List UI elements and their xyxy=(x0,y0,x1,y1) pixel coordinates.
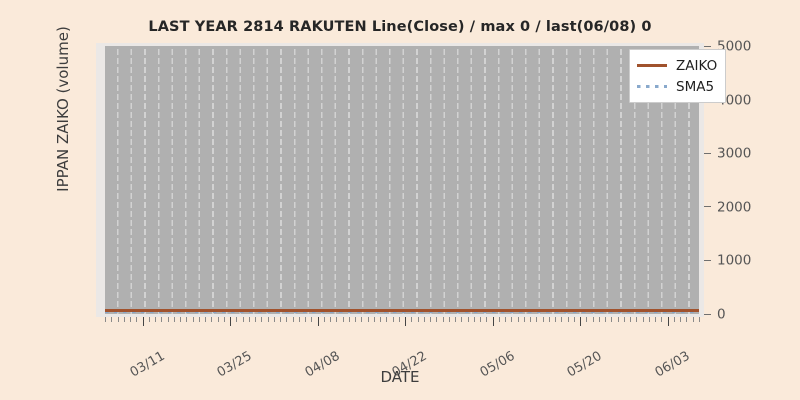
x-axis-minor-tick xyxy=(336,317,337,322)
x-axis-minor-tick xyxy=(599,317,600,322)
x-axis-minor-tick xyxy=(505,317,506,322)
x-axis-minor-tick xyxy=(205,317,206,322)
y-tick-mark xyxy=(704,260,711,261)
x-axis-minor-tick xyxy=(618,317,619,322)
x-axis-minor-tick xyxy=(418,317,419,322)
x-axis-minor-tick xyxy=(105,317,106,322)
x-axis-minor-tick xyxy=(393,317,394,322)
y-tick-label: 3000 xyxy=(717,146,751,162)
x-axis-minor-tick xyxy=(674,317,675,322)
x-axis-minor-tick xyxy=(293,317,294,322)
y-tick-label: 0 xyxy=(717,307,726,323)
x-axis-major-tick xyxy=(230,317,231,326)
x-axis-minor-tick xyxy=(474,317,475,322)
x-axis-minor-tick xyxy=(386,317,387,322)
x-axis-minor-tick xyxy=(430,317,431,322)
legend-label: SMA5 xyxy=(676,79,714,95)
x-axis-minor-tick xyxy=(236,317,237,322)
x-axis-minor-tick xyxy=(355,317,356,322)
x-axis-minor-tick xyxy=(299,317,300,322)
x-axis-minor-tick xyxy=(211,317,212,322)
x-axis-minor-tick xyxy=(305,317,306,322)
x-axis-minor-tick xyxy=(624,317,625,322)
x-axis-major-tick xyxy=(580,317,581,326)
x-axis-minor-tick xyxy=(443,317,444,322)
x-axis-minor-tick xyxy=(518,317,519,322)
x-axis-minor-tick xyxy=(268,317,269,322)
x-axis-minor-tick xyxy=(636,317,637,322)
x-axis-minor-tick xyxy=(330,317,331,322)
x-axis-minor-tick xyxy=(149,317,150,322)
x-axis-minor-tick xyxy=(486,317,487,322)
x-axis-minor-tick xyxy=(186,317,187,322)
x-axis-minor-tick xyxy=(243,317,244,322)
x-axis-minor-tick xyxy=(280,317,281,322)
x-axis-minor-tick xyxy=(193,317,194,322)
x-axis-minor-tick xyxy=(649,317,650,322)
x-axis-minor-tick xyxy=(411,317,412,322)
chart-figure: LAST YEAR 2814 RAKUTEN Line(Close) / max… xyxy=(0,0,800,400)
x-axis-minor-tick xyxy=(261,317,262,322)
x-axis-minor-tick xyxy=(399,317,400,322)
x-axis-minor-tick xyxy=(561,317,562,322)
x-axis-minor-tick xyxy=(530,317,531,322)
y-tick-mark xyxy=(704,46,711,47)
x-axis-minor-tick xyxy=(593,317,594,322)
x-axis-minor-tick xyxy=(361,317,362,322)
x-axis-minor-tick xyxy=(568,317,569,322)
x-axis-minor-tick xyxy=(224,317,225,322)
x-axis-minor-tick xyxy=(155,317,156,322)
chart-legend[interactable]: ZAIKOSMA5 xyxy=(629,49,726,103)
x-axis-minor-tick xyxy=(686,317,687,322)
x-axis-minor-tick xyxy=(524,317,525,322)
y-tick-mark xyxy=(704,206,711,207)
x-axis-minor-tick xyxy=(605,317,606,322)
x-axis-minor-tick xyxy=(436,317,437,322)
x-axis-minor-tick xyxy=(455,317,456,322)
x-axis-minor-tick xyxy=(255,317,256,322)
y-tick-mark xyxy=(704,314,711,315)
x-axis-minor-tick xyxy=(643,317,644,322)
legend-item-zaiko[interactable]: ZAIKO xyxy=(637,55,717,76)
x-axis-minor-tick xyxy=(574,317,575,322)
x-axis-minor-tick xyxy=(680,317,681,322)
y-tick-mark xyxy=(704,153,711,154)
x-axis-minor-tick xyxy=(249,317,250,322)
x-axis-minor-tick xyxy=(661,317,662,322)
legend-label: ZAIKO xyxy=(676,58,717,74)
x-axis-minor-tick xyxy=(311,317,312,322)
x-axis-minor-tick xyxy=(180,317,181,322)
x-axis-minor-tick xyxy=(124,317,125,322)
legend-item-sma5[interactable]: SMA5 xyxy=(637,76,717,97)
x-axis-minor-tick xyxy=(324,317,325,322)
x-axis-minor-tick xyxy=(630,317,631,322)
x-axis-minor-tick xyxy=(274,317,275,322)
y-tick-label: 1000 xyxy=(717,253,751,269)
x-axis-minor-tick xyxy=(286,317,287,322)
x-axis-minor-tick xyxy=(449,317,450,322)
x-axis-minor-tick xyxy=(586,317,587,322)
x-axis-minor-tick xyxy=(480,317,481,322)
y-axis-title: IPPAN ZAIKO (volume) xyxy=(54,0,72,219)
x-axis-minor-tick xyxy=(218,317,219,322)
legend-swatch-icon xyxy=(637,85,667,88)
x-axis-major-tick xyxy=(143,317,144,326)
x-axis-minor-tick xyxy=(161,317,162,322)
x-axis-minor-tick xyxy=(655,317,656,322)
x-axis-minor-tick xyxy=(111,317,112,322)
x-axis-minor-tick xyxy=(549,317,550,322)
x-axis-minor-tick xyxy=(461,317,462,322)
x-axis-minor-tick xyxy=(511,317,512,322)
x-axis-title: DATE xyxy=(96,368,704,386)
x-axis-minor-tick xyxy=(543,317,544,322)
y-tick-label: 2000 xyxy=(717,199,751,215)
x-axis-minor-tick xyxy=(174,317,175,322)
x-axis-minor-tick xyxy=(374,317,375,322)
x-axis-minor-tick xyxy=(499,317,500,322)
x-axis-minor-tick xyxy=(468,317,469,322)
x-axis-major-tick xyxy=(318,317,319,326)
x-axis-minor-tick xyxy=(368,317,369,322)
x-axis-major-tick xyxy=(493,317,494,326)
x-axis-minor-tick xyxy=(380,317,381,322)
x-axis-major-tick xyxy=(668,317,669,326)
legend-swatch-icon xyxy=(637,64,667,67)
x-axis-minor-tick xyxy=(699,317,700,322)
x-axis-minor-tick xyxy=(536,317,537,322)
x-axis-minor-tick xyxy=(118,317,119,322)
x-axis-minor-tick xyxy=(199,317,200,322)
gridline-dash-mask xyxy=(105,46,699,314)
x-axis-minor-tick xyxy=(424,317,425,322)
chart-title: LAST YEAR 2814 RAKUTEN Line(Close) / max… xyxy=(0,19,800,35)
x-axis-minor-tick xyxy=(611,317,612,322)
x-axis-minor-tick xyxy=(343,317,344,322)
x-axis-minor-tick xyxy=(349,317,350,322)
x-axis-major-tick xyxy=(405,317,406,326)
x-axis-minor-tick xyxy=(136,317,137,322)
plot-area xyxy=(105,46,699,314)
x-axis-minor-tick xyxy=(555,317,556,322)
x-axis-minor-tick xyxy=(168,317,169,322)
series-line-zaiko xyxy=(105,309,699,312)
x-axis-minor-tick xyxy=(130,317,131,322)
x-axis-minor-tick xyxy=(693,317,694,322)
